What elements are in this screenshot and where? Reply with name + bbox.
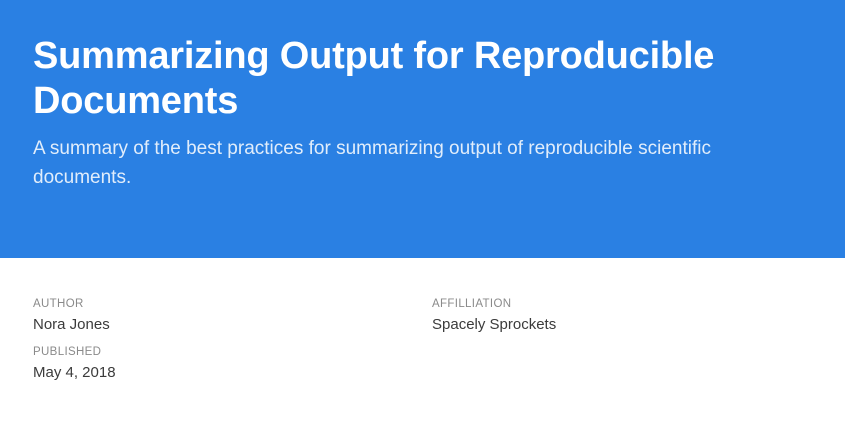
metadata-field-affiliation: AFFILLIATION Spacely Sprockets: [432, 296, 812, 343]
title-banner: Summarizing Output for Reproducible Docu…: [0, 0, 845, 258]
author-label: AUTHOR: [33, 296, 432, 313]
metadata-field-author: AUTHOR Nora Jones: [33, 296, 432, 343]
page-subtitle: A summary of the best practices for summ…: [33, 134, 793, 193]
title-banner-content: Summarizing Output for Reproducible Docu…: [33, 34, 793, 193]
page-title: Summarizing Output for Reproducible Docu…: [33, 34, 733, 124]
metadata-column-author: AUTHOR Nora Jones PUBLISHED May 4, 2018: [33, 296, 432, 391]
metadata-field-published: PUBLISHED May 4, 2018: [33, 344, 432, 391]
published-value: May 4, 2018: [33, 361, 432, 384]
metadata-column-affiliation: AFFILLIATION Spacely Sprockets: [432, 296, 812, 344]
document-metadata: AUTHOR Nora Jones PUBLISHED May 4, 2018 …: [0, 258, 845, 391]
affiliation-value: Spacely Sprockets: [432, 313, 812, 336]
author-value: Nora Jones: [33, 313, 432, 336]
document-page: Summarizing Output for Reproducible Docu…: [0, 0, 845, 444]
affiliation-label: AFFILLIATION: [432, 296, 812, 313]
published-label: PUBLISHED: [33, 344, 432, 361]
